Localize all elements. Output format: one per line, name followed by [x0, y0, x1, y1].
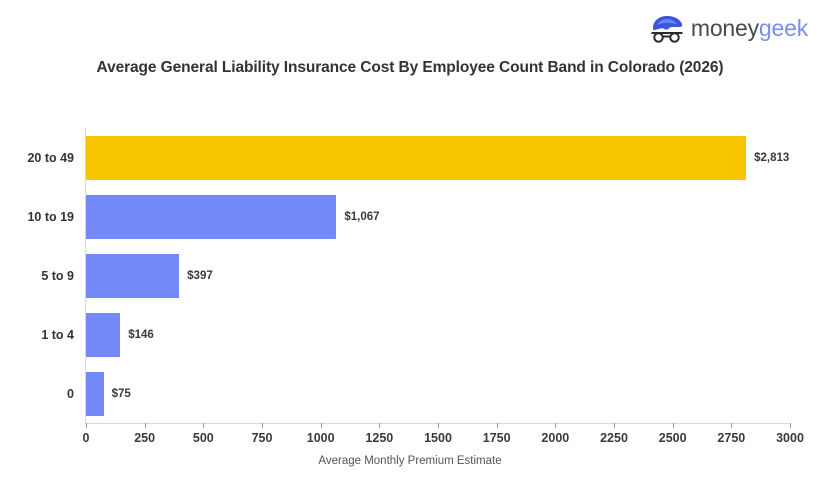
- x-tick-mark: [438, 423, 439, 428]
- bar-row: $146: [86, 313, 790, 357]
- x-tick-label: 250: [134, 431, 155, 445]
- x-tick-label: 0: [83, 431, 90, 445]
- chart-title: Average General Liability Insurance Cost…: [60, 57, 760, 78]
- x-tick-mark: [497, 423, 498, 428]
- x-tick-mark: [731, 423, 732, 428]
- x-tick-mark: [321, 423, 322, 428]
- bar-value-label: $397: [179, 270, 213, 282]
- bar-1-to-4[interactable]: [86, 313, 120, 357]
- y-axis-label-1-to-4: 1 to 4: [41, 328, 74, 342]
- bar-20-to-49[interactable]: [86, 136, 746, 180]
- x-tick-label: 2250: [600, 431, 628, 445]
- moneygeek-wordmark: moneygeek: [691, 17, 808, 40]
- bar-value-label: $1,067: [336, 211, 379, 223]
- logo-text-geek: geek: [759, 15, 808, 41]
- bar-row: $1,067: [86, 195, 790, 239]
- x-tick-mark: [673, 423, 674, 428]
- x-tick-mark: [614, 423, 615, 428]
- bar-0[interactable]: [86, 372, 104, 416]
- x-tick-mark: [379, 423, 380, 428]
- x-axis-title: Average Monthly Premium Estimate: [0, 455, 820, 467]
- bar-row: $75: [86, 372, 790, 416]
- x-tick-label: 2000: [541, 431, 569, 445]
- y-axis-label-5-to-9: 5 to 9: [41, 269, 74, 283]
- moneygeek-logo: moneygeek: [650, 10, 808, 46]
- x-tick-label: 1000: [307, 431, 335, 445]
- bar-row: $2,813: [86, 136, 790, 180]
- y-axis-label-0: 0: [67, 387, 74, 401]
- moneygeek-car-glasses-icon: [650, 13, 684, 43]
- bar-row: $397: [86, 254, 790, 298]
- x-tick-mark: [790, 423, 791, 428]
- y-axis-label-10-to-19: 10 to 19: [27, 210, 74, 224]
- x-tick-label: 3000: [776, 431, 804, 445]
- x-tick-label: 2750: [717, 431, 745, 445]
- x-tick-label: 750: [252, 431, 273, 445]
- x-tick-label: 500: [193, 431, 214, 445]
- x-tick-mark: [262, 423, 263, 428]
- bar-10-to-19[interactable]: [86, 195, 336, 239]
- x-tick-label: 1750: [483, 431, 511, 445]
- logo-text-money: money: [691, 15, 759, 41]
- bar-value-label: $2,813: [746, 152, 789, 164]
- x-tick-label: 2500: [659, 431, 687, 445]
- y-axis-label-20-to-49: 20 to 49: [27, 151, 74, 165]
- bar-value-label: $146: [120, 329, 154, 341]
- x-tick-mark: [86, 423, 87, 428]
- bar-5-to-9[interactable]: [86, 254, 179, 298]
- bar-chart-plot-area: $75$146$397$1,067$2,813 0250500750100012…: [86, 128, 790, 423]
- x-tick-mark: [203, 423, 204, 428]
- x-tick-label: 1500: [424, 431, 452, 445]
- x-tick-mark: [145, 423, 146, 428]
- x-tick-label: 1250: [365, 431, 393, 445]
- x-tick-mark: [555, 423, 556, 428]
- bar-value-label: $75: [104, 388, 131, 400]
